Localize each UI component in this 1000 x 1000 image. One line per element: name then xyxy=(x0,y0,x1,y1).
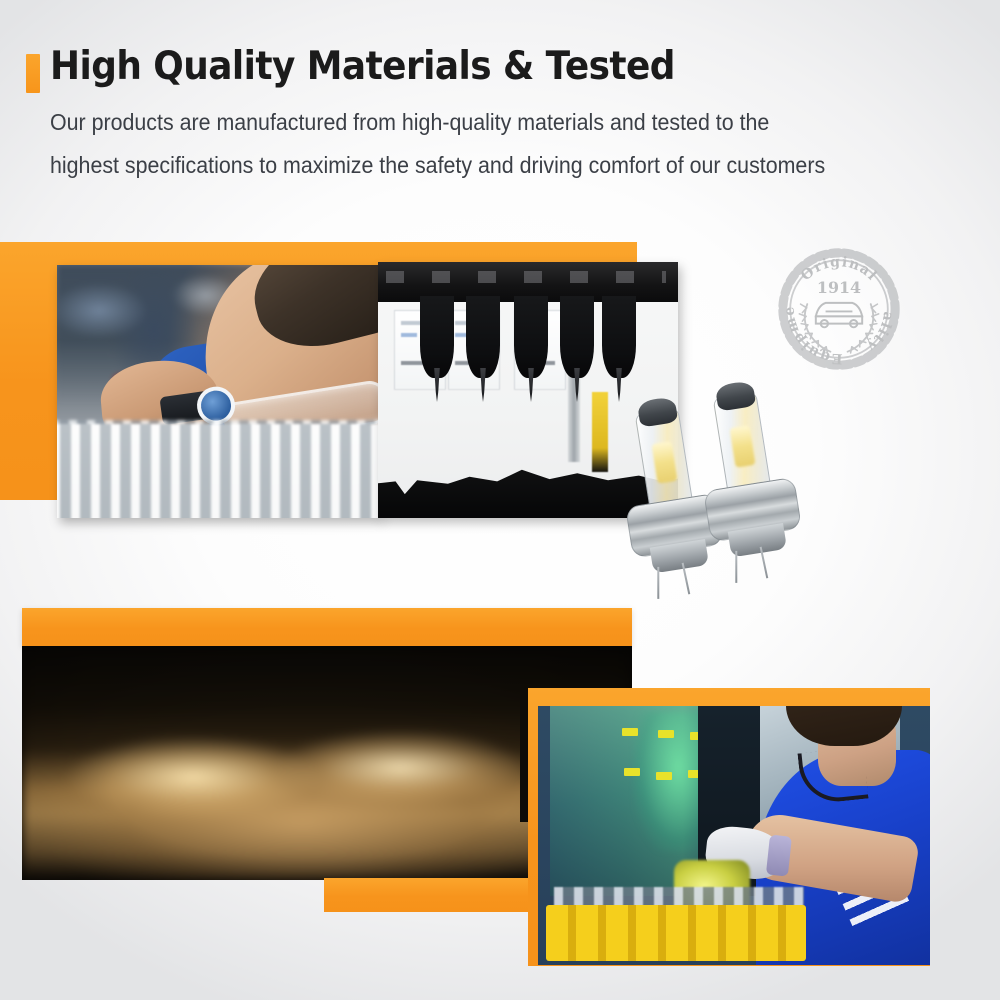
dispensing-nozzle xyxy=(602,296,636,378)
dispensing-nozzle xyxy=(420,296,454,378)
dispensing-nozzle xyxy=(466,296,500,378)
lower-orange-bar xyxy=(22,608,632,646)
lower-orange-accent-bar xyxy=(324,878,528,912)
halogen-bulb-pair xyxy=(622,382,804,574)
infographic-canvas: High Quality Materials & Tested Our prod… xyxy=(0,0,1000,1000)
yellow-bulb-tray xyxy=(546,905,806,961)
subtitle-line-1: Our products are manufactured from high-… xyxy=(50,109,769,136)
seal-year: 1914 xyxy=(817,278,861,297)
yellow-label xyxy=(624,768,640,776)
bulb-tray-front xyxy=(57,424,380,518)
dispensing-nozzle xyxy=(560,296,594,378)
yellow-label xyxy=(656,772,672,780)
title-accent-bar xyxy=(26,54,40,93)
quality-inspection-photo xyxy=(57,265,380,518)
subtitle-line-2: highest specifications to maximize the s… xyxy=(50,152,825,179)
bulb-pin xyxy=(657,567,659,599)
header-section: High Quality Materials & Tested Our prod… xyxy=(0,0,1000,210)
dispensing-nozzle xyxy=(514,296,548,378)
page-title: High Quality Materials & Tested xyxy=(50,44,675,89)
machine-yellow-marker xyxy=(592,392,608,472)
bulb-pin xyxy=(735,551,737,583)
yellow-label xyxy=(622,728,638,736)
factory-worker-photo xyxy=(538,706,930,965)
quality-original-equipment-seal: Original Quality Equipment 1914 xyxy=(778,248,900,370)
yellow-label xyxy=(658,730,674,738)
